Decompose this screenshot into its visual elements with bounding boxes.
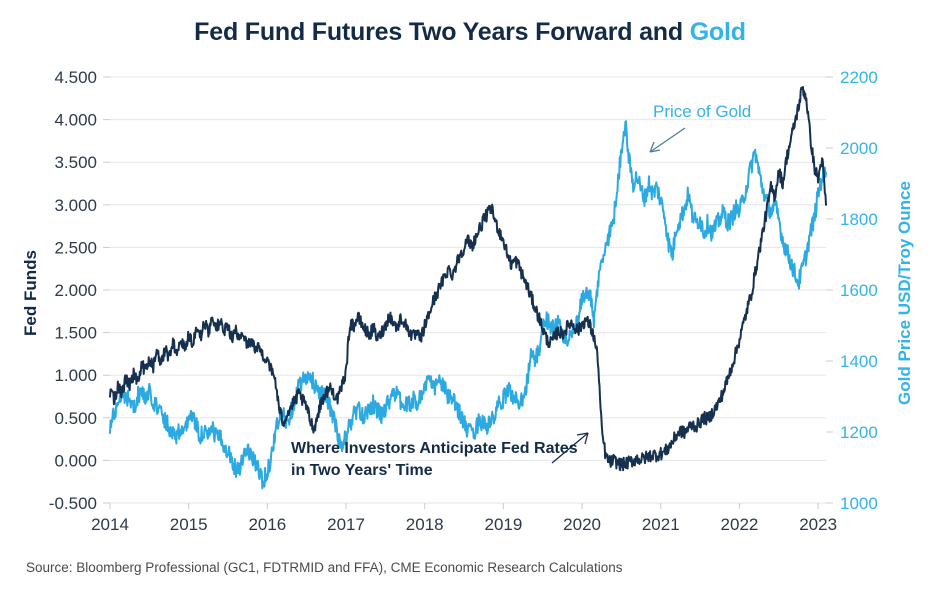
- x-tick-label: 2020: [563, 515, 601, 534]
- right-tick-label: 2000: [840, 139, 878, 158]
- right-tick-label: 1200: [840, 423, 878, 442]
- annotation-fed-rates-line1: Where Investors Anticipate Fed Rates: [291, 440, 578, 457]
- source-note: Source: Bloomberg Professional (GC1, FDT…: [26, 560, 622, 575]
- left-tick-label: 3.500: [54, 153, 97, 172]
- series-line-fed-funds: [110, 87, 826, 470]
- x-tick-label: 2023: [799, 515, 837, 534]
- left-tick-label: 4.000: [54, 111, 97, 130]
- left-tick-label: 3.000: [54, 196, 97, 215]
- right-tick-label: 1800: [840, 210, 878, 229]
- x-tick-label: 2016: [248, 515, 286, 534]
- left-tick-label: 2.000: [54, 281, 97, 300]
- series-line-gold: [110, 121, 826, 488]
- x-tick-label: 2018: [406, 515, 444, 534]
- x-tick-label: 2017: [327, 515, 365, 534]
- x-tick-label: 2014: [91, 515, 129, 534]
- left-axis-ticks: -0.5000.0000.5001.0001.5002.0002.5003.00…: [49, 68, 110, 513]
- left-tick-label: 4.500: [54, 68, 97, 87]
- right-tick-label: 1400: [840, 352, 878, 371]
- left-tick-label: 2.500: [54, 238, 97, 257]
- annotation-fed-rates-line2: in Two Years' Time: [291, 462, 433, 479]
- left-tick-label: 1.000: [54, 366, 97, 385]
- chart-root: Fed Fund Futures Two Years Forward and G…: [0, 0, 940, 600]
- x-tick-label: 2021: [642, 515, 680, 534]
- annotation-gold-arrow-line: [650, 128, 685, 152]
- x-axis-ticks: 2014201520162017201820192020202120222023: [91, 503, 837, 534]
- right-axis-title: Gold Price USD/Troy Ounce: [895, 181, 914, 405]
- right-tick-label: 1000: [840, 494, 878, 513]
- left-tick-label: -0.500: [49, 494, 97, 513]
- left-axis-title: Fed Funds: [21, 250, 40, 336]
- x-tick-label: 2022: [721, 515, 759, 534]
- right-tick-label: 2200: [840, 68, 878, 87]
- right-tick-label: 1600: [840, 281, 878, 300]
- annotation-gold-label: Price of Gold: [653, 102, 751, 121]
- left-tick-label: 0.000: [54, 451, 97, 470]
- x-tick-label: 2015: [170, 515, 208, 534]
- chart-plot-svg: -0.5000.0000.5001.0001.5002.0002.5003.00…: [0, 0, 940, 600]
- left-tick-label: 1.500: [54, 324, 97, 343]
- left-tick-label: 0.500: [54, 409, 97, 428]
- annotation-fed-rates: Where Investors Anticipate Fed Rates in …: [291, 433, 588, 479]
- right-axis-ticks: 1000120014001600180020002200: [826, 68, 878, 513]
- x-tick-label: 2019: [484, 515, 522, 534]
- annotation-gold: Price of Gold: [650, 102, 751, 152]
